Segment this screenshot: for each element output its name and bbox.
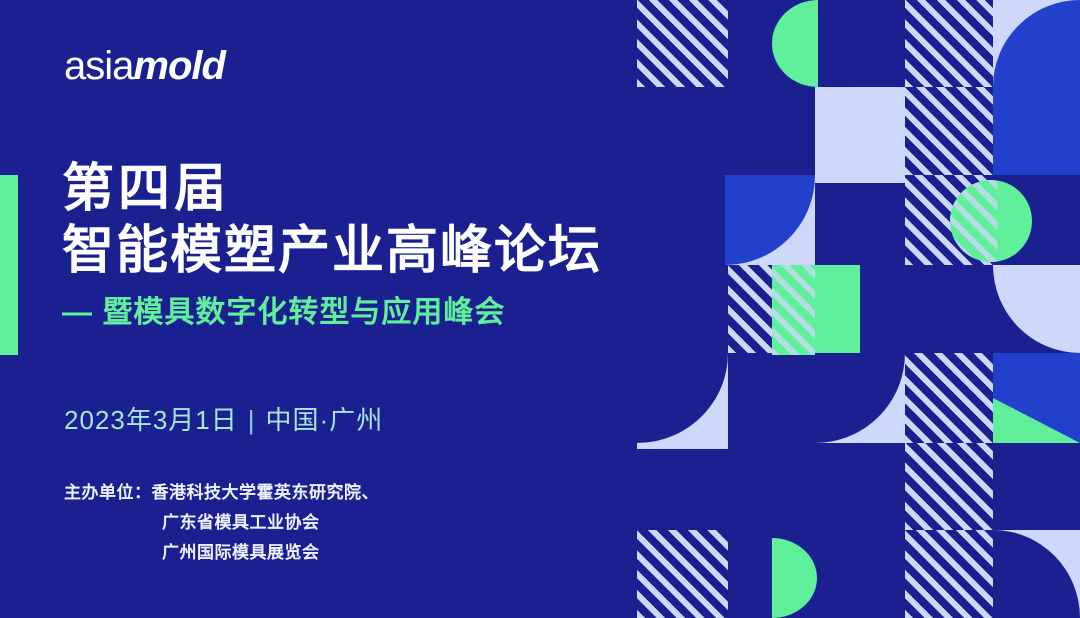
event-location: 中国·广州 — [266, 405, 384, 435]
organizers-label: 主办单位： — [64, 483, 152, 502]
title-line-1: 第四届 — [62, 160, 682, 218]
logo-text-asia: asia — [64, 44, 133, 88]
accent-bar — [0, 175, 18, 355]
dateline-separator: | — [248, 405, 256, 436]
organizer-2: 广东省模具工业协会 — [64, 508, 379, 538]
organizer-3: 广州国际模具展览会 — [64, 538, 379, 568]
event-date: 2023年3月1日 — [64, 405, 238, 435]
title-line-2: 智能模塑产业高峰论坛 — [62, 220, 682, 282]
organizer-1: 香港科技大学霍英东研究院、 — [152, 483, 380, 502]
title-subtitle: — 暨模具数字化转型与应用峰会 — [62, 293, 682, 332]
asiamold-logo: asiamold — [64, 46, 225, 86]
logo-text-mold: mold — [133, 44, 225, 88]
event-dateline: 2023年3月1日|中国·广州 — [64, 400, 383, 437]
title-block: 第四届 智能模塑产业高峰论坛 — 暨模具数字化转型与应用峰会 — [62, 160, 682, 332]
organizers-block: 主办单位：香港科技大学霍英东研究院、 广东省模具工业协会 广州国际模具展览会 — [64, 478, 379, 567]
poster-content: asiamold 第四届 智能模塑产业高峰论坛 — 暨模具数字化转型与应用峰会 … — [0, 0, 1080, 618]
poster-canvas: asiamold 第四届 智能模塑产业高峰论坛 — 暨模具数字化转型与应用峰会 … — [0, 0, 1080, 618]
